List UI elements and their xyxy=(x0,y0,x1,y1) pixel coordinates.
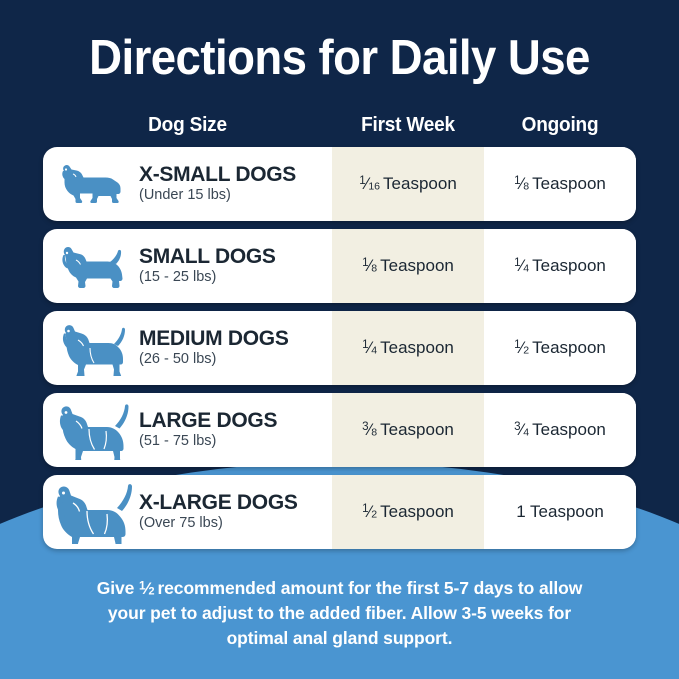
directions-infographic: Directions for Daily Use Dog Size First … xyxy=(0,0,679,679)
fraction: 1⁄4 xyxy=(514,256,529,276)
fraction: 3⁄4 xyxy=(514,420,529,440)
fraction-denominator: 16 xyxy=(368,181,380,193)
cell-ongoing: 1 Teaspoon xyxy=(484,475,636,549)
dog-size-name: MEDIUM DOGS xyxy=(139,328,289,350)
fraction-denominator: 8 xyxy=(523,181,529,193)
dog-size-name: X-SMALL DOGS xyxy=(139,164,296,186)
basset-hound-dog-icon xyxy=(51,235,133,297)
dose-unit: Teaspoon xyxy=(532,174,606,194)
dog-size-text: LARGE DOGS (51 - 75 lbs) xyxy=(133,410,277,449)
fraction-denominator: 4 xyxy=(523,263,529,275)
fraction-denominator: 2 xyxy=(371,509,377,521)
column-header-ongoing: Ongoing xyxy=(488,114,632,140)
fraction-denominator: 8 xyxy=(371,427,377,439)
cell-ongoing: 3⁄4Teaspoon xyxy=(484,393,636,467)
column-headers: Dog Size First Week Ongoing xyxy=(43,114,636,140)
dog-size-name: X-LARGE DOGS xyxy=(139,492,298,514)
dose-unit: Teaspoon xyxy=(380,502,454,522)
dog-size-name: LARGE DOGS xyxy=(139,410,277,432)
dosage-table: X-SMALL DOGS (Under 15 lbs) 1⁄16Teaspoon… xyxy=(43,147,636,557)
dog-size-text: MEDIUM DOGS (26 - 50 lbs) xyxy=(133,328,289,367)
footer-note: Give 1⁄2recommended amount for the first… xyxy=(63,576,616,651)
dog-size-name: SMALL DOGS xyxy=(139,246,276,268)
dog-size-weight: (15 - 25 lbs) xyxy=(139,270,276,285)
bloodhound-dog-icon xyxy=(51,481,133,543)
cell-ongoing: 1⁄2Teaspoon xyxy=(484,311,636,385)
fraction: 1⁄2 xyxy=(362,502,377,522)
cell-first-week: 1⁄4Teaspoon xyxy=(332,311,484,385)
fraction: 1⁄8 xyxy=(514,174,529,194)
footer-line3: optimal anal gland support. xyxy=(227,628,453,648)
dog-size-weight: (Under 15 lbs) xyxy=(139,188,296,203)
table-row: X-LARGE DOGS (Over 75 lbs) 1⁄2Teaspoon 1… xyxy=(43,475,636,549)
dose-unit: 1 Teaspoon xyxy=(516,502,604,522)
footer-line2: your pet to adjust to the added fiber. A… xyxy=(108,603,571,623)
dog-size-text: X-SMALL DOGS (Under 15 lbs) xyxy=(133,164,296,203)
fraction: 1⁄8 xyxy=(362,256,377,276)
cell-first-week: 1⁄2Teaspoon xyxy=(332,475,484,549)
cell-dog-size: X-SMALL DOGS (Under 15 lbs) xyxy=(43,147,332,221)
column-header-first-week: First Week xyxy=(336,114,480,140)
cell-ongoing: 1⁄8Teaspoon xyxy=(484,147,636,221)
dog-size-weight: (51 - 75 lbs) xyxy=(139,434,277,449)
dose-unit: Teaspoon xyxy=(532,338,606,358)
fraction-numerator: 1 xyxy=(139,578,146,592)
fraction: 1⁄2 xyxy=(139,576,154,601)
table-row: SMALL DOGS (15 - 25 lbs) 1⁄8Teaspoon 1⁄4… xyxy=(43,229,636,303)
dose-unit: Teaspoon xyxy=(383,174,457,194)
cell-first-week: 1⁄8Teaspoon xyxy=(332,229,484,303)
cell-first-week: 3⁄8Teaspoon xyxy=(332,393,484,467)
footer-line1-pre: Give xyxy=(97,578,135,598)
cell-dog-size: LARGE DOGS (51 - 75 lbs) xyxy=(43,393,332,467)
fraction: 1⁄16 xyxy=(359,174,380,194)
fraction-denominator: 8 xyxy=(371,263,377,275)
fraction-denominator: 4 xyxy=(523,427,529,439)
pointer-dog-icon xyxy=(51,399,133,461)
dose-unit: Teaspoon xyxy=(532,420,606,440)
table-row: LARGE DOGS (51 - 75 lbs) 3⁄8Teaspoon 3⁄4… xyxy=(43,393,636,467)
fraction: 1⁄4 xyxy=(362,338,377,358)
cell-ongoing: 1⁄4Teaspoon xyxy=(484,229,636,303)
footer-line1-post: recommended amount for the first 5-7 day… xyxy=(157,578,582,598)
dachshund-dog-icon xyxy=(51,153,133,215)
dog-size-text: X-LARGE DOGS (Over 75 lbs) xyxy=(133,492,298,531)
page-title: Directions for Daily Use xyxy=(24,33,655,84)
dog-size-weight: (Over 75 lbs) xyxy=(139,516,298,531)
dose-unit: Teaspoon xyxy=(380,420,454,440)
cell-first-week: 1⁄16Teaspoon xyxy=(332,147,484,221)
fraction-denominator: 2 xyxy=(523,345,529,357)
dose-unit: Teaspoon xyxy=(380,256,454,276)
dog-size-weight: (26 - 50 lbs) xyxy=(139,352,289,367)
fraction: 3⁄8 xyxy=(362,420,377,440)
dose-unit: Teaspoon xyxy=(380,338,454,358)
column-header-dog-size: Dog Size xyxy=(50,114,325,140)
cell-dog-size: X-LARGE DOGS (Over 75 lbs) xyxy=(43,475,332,549)
table-row: MEDIUM DOGS (26 - 50 lbs) 1⁄4Teaspoon 1⁄… xyxy=(43,311,636,385)
fraction-denominator: 2 xyxy=(148,586,154,598)
dog-size-text: SMALL DOGS (15 - 25 lbs) xyxy=(133,246,276,285)
fraction-denominator: 4 xyxy=(371,345,377,357)
dose-unit: Teaspoon xyxy=(532,256,606,276)
table-row: X-SMALL DOGS (Under 15 lbs) 1⁄16Teaspoon… xyxy=(43,147,636,221)
beagle-dog-icon xyxy=(51,317,133,379)
cell-dog-size: MEDIUM DOGS (26 - 50 lbs) xyxy=(43,311,332,385)
fraction: 1⁄2 xyxy=(514,338,529,358)
cell-dog-size: SMALL DOGS (15 - 25 lbs) xyxy=(43,229,332,303)
